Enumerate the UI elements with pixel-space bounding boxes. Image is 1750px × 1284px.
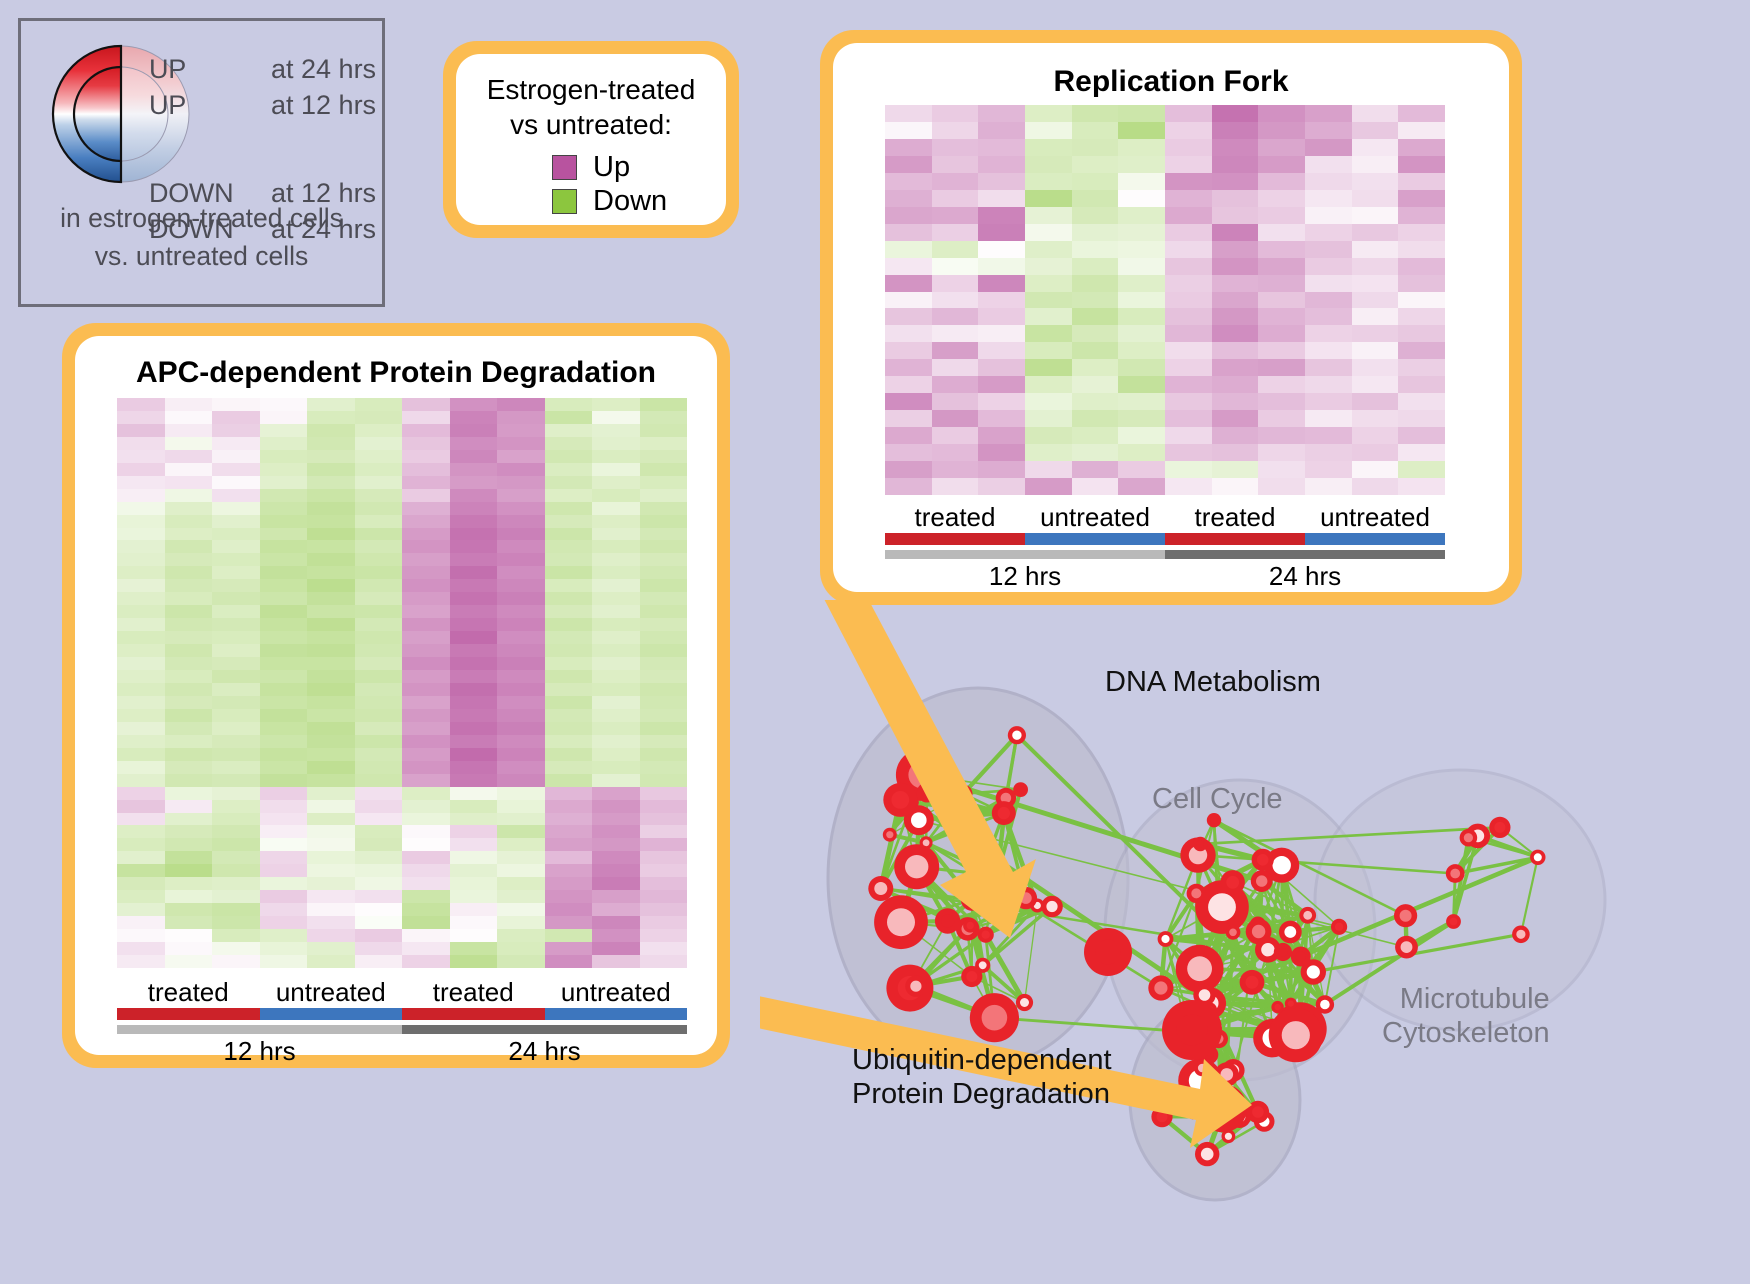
heatmap-cell bbox=[450, 411, 498, 424]
network-node[interactable] bbox=[1299, 907, 1316, 924]
network-node[interactable] bbox=[1158, 931, 1174, 947]
heatmap-cell bbox=[117, 787, 165, 800]
heatmap-cell bbox=[932, 359, 979, 376]
heatmap-cell bbox=[497, 851, 545, 864]
heatmap-cell bbox=[545, 424, 593, 437]
heatmap-cell bbox=[1118, 393, 1165, 410]
heatmap-cell bbox=[885, 325, 932, 342]
heatmap-cell bbox=[1352, 105, 1399, 122]
node-inner-core bbox=[1246, 976, 1259, 989]
heatmap-cell bbox=[212, 825, 260, 838]
heatmap-cell bbox=[545, 437, 593, 450]
heatmap-cell bbox=[355, 528, 403, 541]
node-inner-core bbox=[1252, 925, 1265, 938]
network-node[interactable] bbox=[1252, 849, 1274, 871]
network-node[interactable] bbox=[1269, 1008, 1323, 1062]
network-node[interactable] bbox=[1240, 970, 1265, 995]
heatmap-cell bbox=[978, 156, 1025, 173]
heatmap-cell bbox=[307, 411, 355, 424]
heatmap-cell bbox=[402, 540, 450, 553]
heatmap-cell bbox=[307, 489, 355, 502]
network-node[interactable] bbox=[868, 876, 893, 901]
condition-labels: treateduntreatedtreateduntreated bbox=[885, 501, 1445, 533]
network-node[interactable] bbox=[905, 976, 926, 997]
heatmap-cell bbox=[592, 890, 640, 903]
heatmap-cell bbox=[497, 800, 545, 813]
heatmap-cell bbox=[1212, 376, 1259, 393]
heatmap-cell bbox=[1352, 122, 1399, 139]
network-node[interactable] bbox=[1008, 726, 1026, 744]
heatmap-cell bbox=[545, 605, 593, 618]
heatmap-cell bbox=[545, 903, 593, 916]
node-inner-core bbox=[1210, 1096, 1235, 1121]
heatmap-cell bbox=[640, 683, 688, 696]
heatmap-cell bbox=[117, 955, 165, 968]
heatmap-cell bbox=[592, 540, 640, 553]
heatmap-cell bbox=[1165, 478, 1212, 495]
heatmap-cell bbox=[307, 877, 355, 890]
node-inner-core bbox=[1261, 943, 1274, 956]
heatmap-cell bbox=[978, 207, 1025, 224]
heatmap-cell bbox=[165, 696, 213, 709]
network-node[interactable] bbox=[963, 918, 977, 932]
heatmap-cell bbox=[592, 942, 640, 955]
heatmap-cell bbox=[545, 489, 593, 502]
heatmap-cell bbox=[1398, 342, 1445, 359]
heatmap-cell bbox=[402, 476, 450, 489]
network-node[interactable] bbox=[894, 844, 939, 889]
heatmap-cell bbox=[165, 709, 213, 722]
heatmap-cell bbox=[355, 838, 403, 851]
network-node[interactable] bbox=[1489, 817, 1510, 838]
heatmap-cell bbox=[545, 618, 593, 631]
heatmap-cell bbox=[1305, 190, 1352, 207]
heatmap-cell bbox=[450, 955, 498, 968]
network-node[interactable] bbox=[1016, 994, 1033, 1011]
heatmap-cell bbox=[1165, 105, 1212, 122]
heatmap-cell bbox=[640, 450, 688, 463]
heatmap-cell bbox=[640, 813, 688, 826]
heatmap-cell bbox=[497, 683, 545, 696]
heatmap-cell bbox=[212, 605, 260, 618]
heatmap-cell bbox=[355, 411, 403, 424]
heatmap-cell bbox=[1212, 325, 1259, 342]
heatmap-cell bbox=[1212, 308, 1259, 325]
heatmap-cell bbox=[1258, 224, 1305, 241]
heatmap-cell bbox=[640, 735, 688, 748]
heatmap-cell bbox=[1118, 139, 1165, 156]
heatmap-cell bbox=[117, 877, 165, 890]
network-node[interactable] bbox=[1291, 947, 1311, 967]
heatmap-cell bbox=[307, 631, 355, 644]
network-node[interactable] bbox=[883, 828, 897, 842]
heatmap-cell bbox=[592, 761, 640, 774]
heatmap-cell bbox=[1165, 393, 1212, 410]
heatmap-cell bbox=[402, 825, 450, 838]
heatmap-cell bbox=[640, 618, 688, 631]
heatmap-cell bbox=[450, 916, 498, 929]
heatmap-cell bbox=[402, 553, 450, 566]
heatmap-cell bbox=[165, 838, 213, 851]
heatmap-cell bbox=[450, 631, 498, 644]
heatmap-cell bbox=[545, 670, 593, 683]
heatmap-cell bbox=[117, 735, 165, 748]
heatmap-cell bbox=[497, 553, 545, 566]
heatmap-cell bbox=[592, 800, 640, 813]
network-node[interactable] bbox=[1221, 870, 1245, 894]
network-node[interactable] bbox=[1013, 782, 1028, 797]
heatmap-cell bbox=[1118, 258, 1165, 275]
network-node[interactable] bbox=[883, 783, 917, 817]
heatmap-cell bbox=[640, 631, 688, 644]
heatmap-cell bbox=[260, 890, 308, 903]
node-inner-core bbox=[922, 787, 933, 798]
heatmap-cell bbox=[497, 722, 545, 735]
heatmap-cell bbox=[307, 670, 355, 683]
heatmap-cell bbox=[260, 903, 308, 916]
heatmap-cell bbox=[1305, 427, 1352, 444]
network-node[interactable] bbox=[1279, 921, 1302, 944]
heatmap-cell bbox=[978, 224, 1025, 241]
heatmap-cell bbox=[545, 709, 593, 722]
heatmap-cell bbox=[212, 631, 260, 644]
node-inner-core bbox=[1020, 892, 1032, 904]
heatmap-cell bbox=[117, 579, 165, 592]
network-node[interactable] bbox=[1274, 943, 1292, 961]
heatmap-cell bbox=[165, 489, 213, 502]
heatmap-cell bbox=[355, 566, 403, 579]
heatmap-cell bbox=[592, 955, 640, 968]
heatmap-cell bbox=[640, 489, 688, 502]
heatmap-cell bbox=[450, 592, 498, 605]
heatmap-cell bbox=[260, 825, 308, 838]
heatmap-cell bbox=[978, 308, 1025, 325]
node-inner-core bbox=[941, 914, 954, 927]
condition-label: untreated bbox=[545, 976, 688, 1008]
heatmap-cell bbox=[497, 761, 545, 774]
node-inner-core bbox=[1187, 956, 1212, 981]
heatmap-cell bbox=[640, 605, 688, 618]
heatmap-cell bbox=[1025, 325, 1072, 342]
heatmap-cell bbox=[117, 748, 165, 761]
heatmap-cell bbox=[260, 540, 308, 553]
heatmap-cell bbox=[978, 122, 1025, 139]
node-inner-core bbox=[1296, 951, 1306, 961]
network-node[interactable] bbox=[1512, 926, 1530, 944]
node-inner-core bbox=[1278, 947, 1287, 956]
heatmap-cell bbox=[978, 173, 1025, 190]
heatmap-cell bbox=[165, 774, 213, 787]
heatmap-cell bbox=[355, 735, 403, 748]
heatmap-cell bbox=[165, 903, 213, 916]
network-node[interactable] bbox=[1193, 837, 1207, 851]
heatmap-cell bbox=[260, 774, 308, 787]
heatmap-cell bbox=[402, 463, 450, 476]
heatmap-cell bbox=[1025, 444, 1072, 461]
heatmap-cell bbox=[165, 566, 213, 579]
heatmap-cell bbox=[592, 696, 640, 709]
heatmap-cell bbox=[355, 398, 403, 411]
heatmap-cell bbox=[640, 864, 688, 877]
heatmap-cell bbox=[1025, 342, 1072, 359]
functional-module-network: DNA Metabolism Cell Cycle Microtubule Cy… bbox=[760, 600, 1750, 1279]
heatmap-cell bbox=[165, 463, 213, 476]
network-node[interactable] bbox=[1222, 1129, 1236, 1143]
heatmap-cell bbox=[545, 877, 593, 890]
network-node[interactable] bbox=[935, 908, 960, 933]
heatmap-cell bbox=[1398, 359, 1445, 376]
network-node[interactable] bbox=[1530, 850, 1545, 865]
heatmap-cell bbox=[260, 476, 308, 489]
heatmap-cell bbox=[1072, 444, 1119, 461]
node-inner-core bbox=[998, 807, 1010, 819]
network-node[interactable] bbox=[1194, 1060, 1211, 1077]
heatmap-cell bbox=[117, 618, 165, 631]
heatmap-cell bbox=[260, 864, 308, 877]
heatmap-cell bbox=[640, 774, 688, 787]
network-node[interactable] bbox=[1446, 864, 1465, 883]
heatmap-cell bbox=[307, 450, 355, 463]
heatmap-cell bbox=[165, 398, 213, 411]
network-node[interactable] bbox=[1199, 1084, 1247, 1132]
heatmap-cell bbox=[307, 644, 355, 657]
condition-bar-segment bbox=[117, 1008, 260, 1020]
heatmap-cell bbox=[1118, 275, 1165, 292]
heatmap-cell bbox=[1398, 325, 1445, 342]
heatmap-cell bbox=[450, 761, 498, 774]
heatmap-cell bbox=[260, 761, 308, 774]
heatmap-cell bbox=[1305, 342, 1352, 359]
heatmap-cell bbox=[1165, 292, 1212, 309]
heatmap-cell bbox=[978, 292, 1025, 309]
heatmap-cell bbox=[402, 877, 450, 890]
heatmap-cell bbox=[260, 424, 308, 437]
heatmap-cell bbox=[932, 275, 979, 292]
legend-item-up: Up bbox=[552, 150, 726, 184]
heatmap-cell bbox=[402, 774, 450, 787]
heatmap-cell bbox=[885, 478, 932, 495]
network-node[interactable] bbox=[1184, 1099, 1205, 1120]
heatmap-cell bbox=[212, 774, 260, 787]
network-node[interactable] bbox=[1041, 896, 1063, 918]
heatmap-cell bbox=[497, 916, 545, 929]
heatmap-cell bbox=[260, 631, 308, 644]
heatmap-cell bbox=[592, 774, 640, 787]
heatmap-cell bbox=[1025, 105, 1072, 122]
network-node[interactable] bbox=[954, 785, 972, 803]
heatmap-cell bbox=[592, 838, 640, 851]
heatmap-cell bbox=[497, 890, 545, 903]
heatmap-cell bbox=[1398, 241, 1445, 258]
network-node[interactable] bbox=[978, 927, 994, 943]
heatmap-cell bbox=[545, 463, 593, 476]
heatmap-cell bbox=[450, 657, 498, 670]
heatmap-cell bbox=[1212, 461, 1259, 478]
network-node[interactable] bbox=[1187, 884, 1206, 903]
heatmap-cell bbox=[545, 800, 593, 813]
network-node[interactable] bbox=[1395, 936, 1418, 959]
network-node[interactable] bbox=[1271, 1001, 1283, 1013]
network-node[interactable] bbox=[1316, 995, 1334, 1013]
network-node[interactable] bbox=[1446, 914, 1461, 929]
network-node[interactable] bbox=[975, 958, 990, 973]
time-label: 24 hrs bbox=[1165, 559, 1445, 593]
network-node[interactable] bbox=[1226, 925, 1241, 940]
network-node[interactable] bbox=[992, 801, 1016, 825]
time-label: 12 hrs bbox=[885, 559, 1165, 593]
heatmap-cell bbox=[545, 722, 593, 735]
heatmap-cell bbox=[117, 774, 165, 787]
heatmap-cell bbox=[1025, 308, 1072, 325]
heatmap-cell bbox=[1072, 342, 1119, 359]
heatmap-cell bbox=[450, 903, 498, 916]
heatmap-cell bbox=[640, 916, 688, 929]
heatmap-cell bbox=[545, 735, 593, 748]
network-node[interactable] bbox=[1015, 887, 1037, 909]
heatmap-cell bbox=[260, 657, 308, 670]
heatmap-cell bbox=[932, 156, 979, 173]
heatmap-cell bbox=[885, 393, 932, 410]
heatmap-cell bbox=[640, 929, 688, 942]
heatmap-cell bbox=[165, 540, 213, 553]
heatmap-cell bbox=[1258, 376, 1305, 393]
network-node[interactable] bbox=[1195, 1142, 1219, 1166]
heatmap-cell bbox=[932, 207, 979, 224]
heatmap-cell bbox=[450, 450, 498, 463]
heatmap-cell bbox=[117, 813, 165, 826]
heatmap-cell bbox=[545, 631, 593, 644]
heatmap-cell bbox=[212, 709, 260, 722]
heatmap-cell bbox=[885, 308, 932, 325]
network-node[interactable] bbox=[1460, 829, 1478, 847]
node-inner-core bbox=[874, 882, 887, 895]
node-inner-core bbox=[1450, 918, 1458, 926]
heatmap-cell bbox=[402, 748, 450, 761]
network-node[interactable] bbox=[1251, 870, 1273, 892]
heatmap-cell bbox=[402, 813, 450, 826]
apc-degradation-axis: treateduntreatedtreateduntreated 12 hrs2… bbox=[117, 976, 687, 1068]
heatmap-cell bbox=[1258, 275, 1305, 292]
heatmap-cell bbox=[212, 929, 260, 942]
legend-item-label: Down bbox=[593, 186, 667, 216]
heatmap-cell bbox=[885, 156, 932, 173]
heatmap-cell bbox=[1072, 478, 1119, 495]
heatmap-cell bbox=[355, 825, 403, 838]
node-inner-core bbox=[1012, 731, 1021, 740]
heatmap-cell bbox=[640, 825, 688, 838]
heatmap-cell bbox=[497, 748, 545, 761]
heatmap-cell bbox=[212, 476, 260, 489]
node-inner-core bbox=[1274, 1004, 1280, 1010]
heatmap-cell bbox=[1118, 410, 1165, 427]
heatmap-cell bbox=[1212, 207, 1259, 224]
heatmap-cell bbox=[307, 748, 355, 761]
heatmap-cell bbox=[307, 657, 355, 670]
heatmap-cell bbox=[640, 709, 688, 722]
heatmap-cell bbox=[117, 450, 165, 463]
heatmap-cell bbox=[1072, 393, 1119, 410]
heatmap-cell bbox=[497, 903, 545, 916]
heatmap-cell bbox=[355, 450, 403, 463]
heatmap-cell bbox=[450, 644, 498, 657]
heatmap-cell bbox=[545, 761, 593, 774]
heatmap-cell bbox=[545, 696, 593, 709]
network-node[interactable] bbox=[1215, 1062, 1239, 1086]
heatmap-cell bbox=[307, 838, 355, 851]
heatmap-cell bbox=[1165, 427, 1212, 444]
heatmap-cell bbox=[212, 800, 260, 813]
heatmap-cell bbox=[497, 877, 545, 890]
heatmap-cell bbox=[978, 410, 1025, 427]
caption-line-2: vs. untreated cells bbox=[21, 237, 382, 275]
heatmap-cell bbox=[402, 398, 450, 411]
heatmap-cell bbox=[307, 696, 355, 709]
heatmap-cell bbox=[450, 424, 498, 437]
heatmap-cell bbox=[1398, 207, 1445, 224]
heatmap-cell bbox=[307, 476, 355, 489]
heatmap-cell bbox=[402, 696, 450, 709]
heatmap-cell bbox=[545, 515, 593, 528]
heatmap-cell bbox=[545, 942, 593, 955]
condition-color-bar bbox=[117, 1008, 687, 1020]
network-node[interactable] bbox=[961, 888, 983, 910]
network-node[interactable] bbox=[970, 993, 1019, 1042]
heatmap-cell bbox=[1305, 173, 1352, 190]
node-inner-core bbox=[979, 961, 987, 969]
node-inner-core bbox=[1020, 998, 1029, 1007]
network-node[interactable] bbox=[1285, 998, 1297, 1010]
network-node[interactable] bbox=[1084, 928, 1132, 976]
network-node[interactable] bbox=[1394, 904, 1417, 927]
network-graph bbox=[760, 600, 1750, 1279]
legend-title: Estrogen-treated vs untreated: bbox=[456, 72, 726, 142]
legend-item-label: Up bbox=[593, 152, 630, 182]
network-node[interactable] bbox=[1162, 1000, 1222, 1060]
network-node[interactable] bbox=[917, 782, 937, 802]
heatmap-cell bbox=[497, 838, 545, 851]
network-node[interactable] bbox=[1151, 1106, 1172, 1127]
heatmap-cell bbox=[307, 890, 355, 903]
condition-label: treated bbox=[885, 501, 1025, 533]
heatmap-cell bbox=[307, 515, 355, 528]
network-node[interactable] bbox=[1331, 919, 1347, 935]
heatmap-cell bbox=[450, 838, 498, 851]
heatmap-cell bbox=[1305, 292, 1352, 309]
heatmap-cell bbox=[212, 528, 260, 541]
heatmap-cell bbox=[1165, 342, 1212, 359]
network-node[interactable] bbox=[874, 895, 928, 949]
heatmap-cell bbox=[355, 579, 403, 592]
heatmap-cell bbox=[1025, 190, 1072, 207]
heatmap-cell bbox=[1305, 275, 1352, 292]
network-node[interactable] bbox=[989, 867, 1006, 884]
heatmap-cell bbox=[497, 605, 545, 618]
heatmap-cell bbox=[1305, 122, 1352, 139]
heatmap-cell bbox=[402, 657, 450, 670]
heatmap-cell bbox=[307, 528, 355, 541]
heatmap-cell bbox=[165, 670, 213, 683]
network-node[interactable] bbox=[1148, 975, 1173, 1000]
heatmap-cell bbox=[640, 657, 688, 670]
heatmap-cell bbox=[1025, 478, 1072, 495]
node-inner-core bbox=[1288, 1001, 1294, 1007]
heatmap-cell bbox=[1398, 376, 1445, 393]
heatmap-cell bbox=[260, 605, 308, 618]
node-inner-core bbox=[1252, 1106, 1264, 1118]
heatmap-cell bbox=[497, 528, 545, 541]
heatmap-cell bbox=[1072, 258, 1119, 275]
heatmap-cell bbox=[497, 942, 545, 955]
